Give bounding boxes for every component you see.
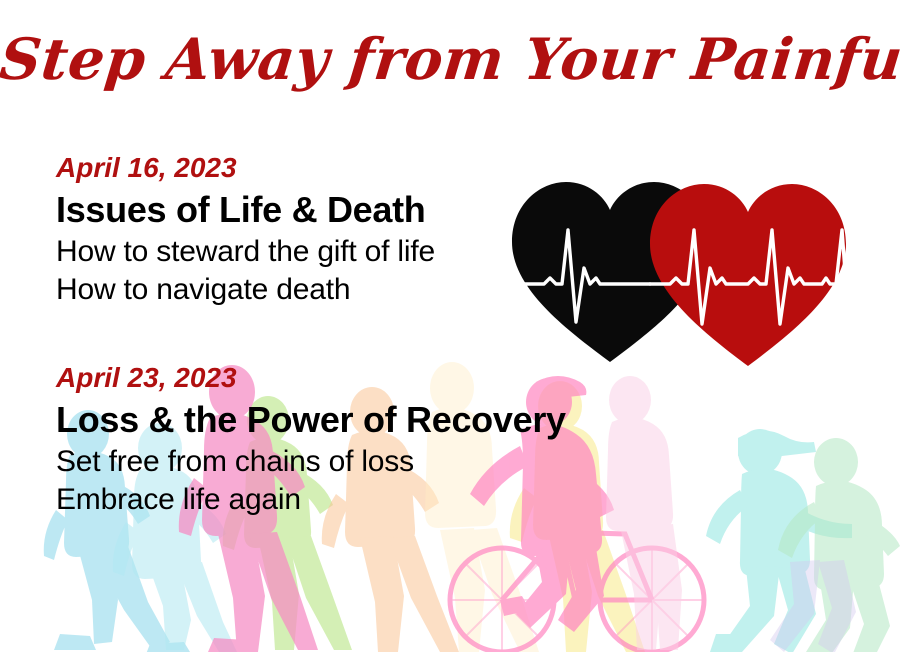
silhouette-runner-green [778,438,900,652]
event-1-heading: Issues of Life & Death [56,190,435,230]
event-1-line-2: How to navigate death [56,271,435,309]
event-2-date: April 23, 2023 [56,362,566,394]
event-2-line-1: Set free from chains of loss [56,443,566,481]
page-title-text: Step Away from Your Painful Past [0,28,900,92]
event-2-line-2: Embrace life again [56,481,566,519]
flyer-canvas: Step Away from Your Painful Past April 1… [0,0,900,652]
event-2-heading: Loss & the Power of Recovery [56,400,566,440]
page-title: Step Away from Your Painful Past [0,28,900,92]
two-hearts-ecg-graphic [500,172,860,372]
silhouette-runner-cyan [706,429,852,652]
event-block-1: April 16, 2023 Issues of Life & Death Ho… [56,152,435,309]
silhouette-runner-lavender [770,560,856,652]
event-1-line-1: How to steward the gift of life [56,233,435,271]
event-1-date: April 16, 2023 [56,152,435,184]
red-heart-shape [650,184,846,366]
silhouette-standing-pale-pink [606,376,682,650]
event-block-2: April 23, 2023 Loss & the Power of Recov… [56,362,566,519]
